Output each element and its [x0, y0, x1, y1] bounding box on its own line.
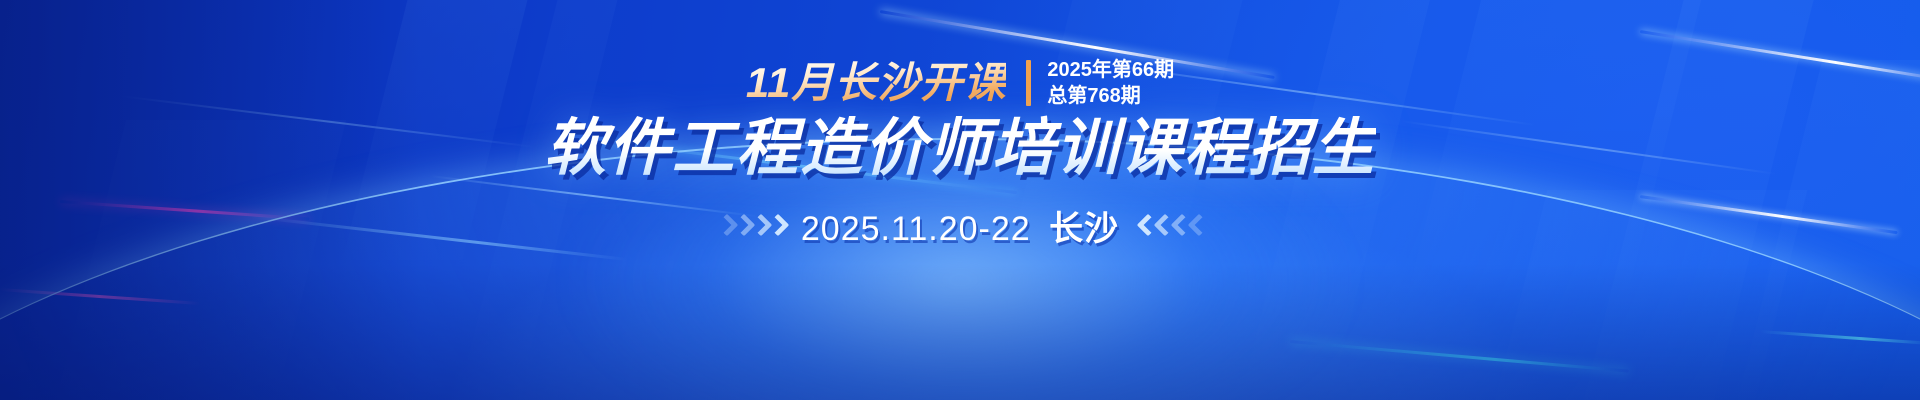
issue-line-1: 2025年第66期 — [1047, 57, 1174, 83]
date-location-row: 2025.11.20-22 长沙 — [717, 201, 1203, 250]
issue-line-2: 总第768期 — [1047, 83, 1174, 109]
page-title: 软件工程造价师培训课程招生 — [544, 113, 1376, 185]
event-date: 2025.11.20-22 — [801, 210, 1031, 248]
eyebrow-main-text: 11月长沙开课 — [746, 57, 1007, 109]
vertical-bar-icon — [1026, 60, 1031, 106]
chevron-right-icon — [717, 213, 783, 239]
event-date-location: 2025.11.20-22 长沙 — [801, 201, 1119, 250]
issue-number-block: 2025年第66期 总第768期 — [1047, 57, 1174, 109]
banner-content: 11月长沙开课 2025年第66期 总第768期 软件工程造价师培训课程招生 2… — [0, 0, 1920, 400]
event-city: 长沙 — [1049, 210, 1119, 248]
eyebrow-row: 11月长沙开课 2025年第66期 总第768期 — [746, 55, 1174, 111]
chevron-left-icon — [1137, 213, 1203, 239]
promo-banner: 11月长沙开课 2025年第66期 总第768期 软件工程造价师培训课程招生 2… — [0, 0, 1920, 400]
